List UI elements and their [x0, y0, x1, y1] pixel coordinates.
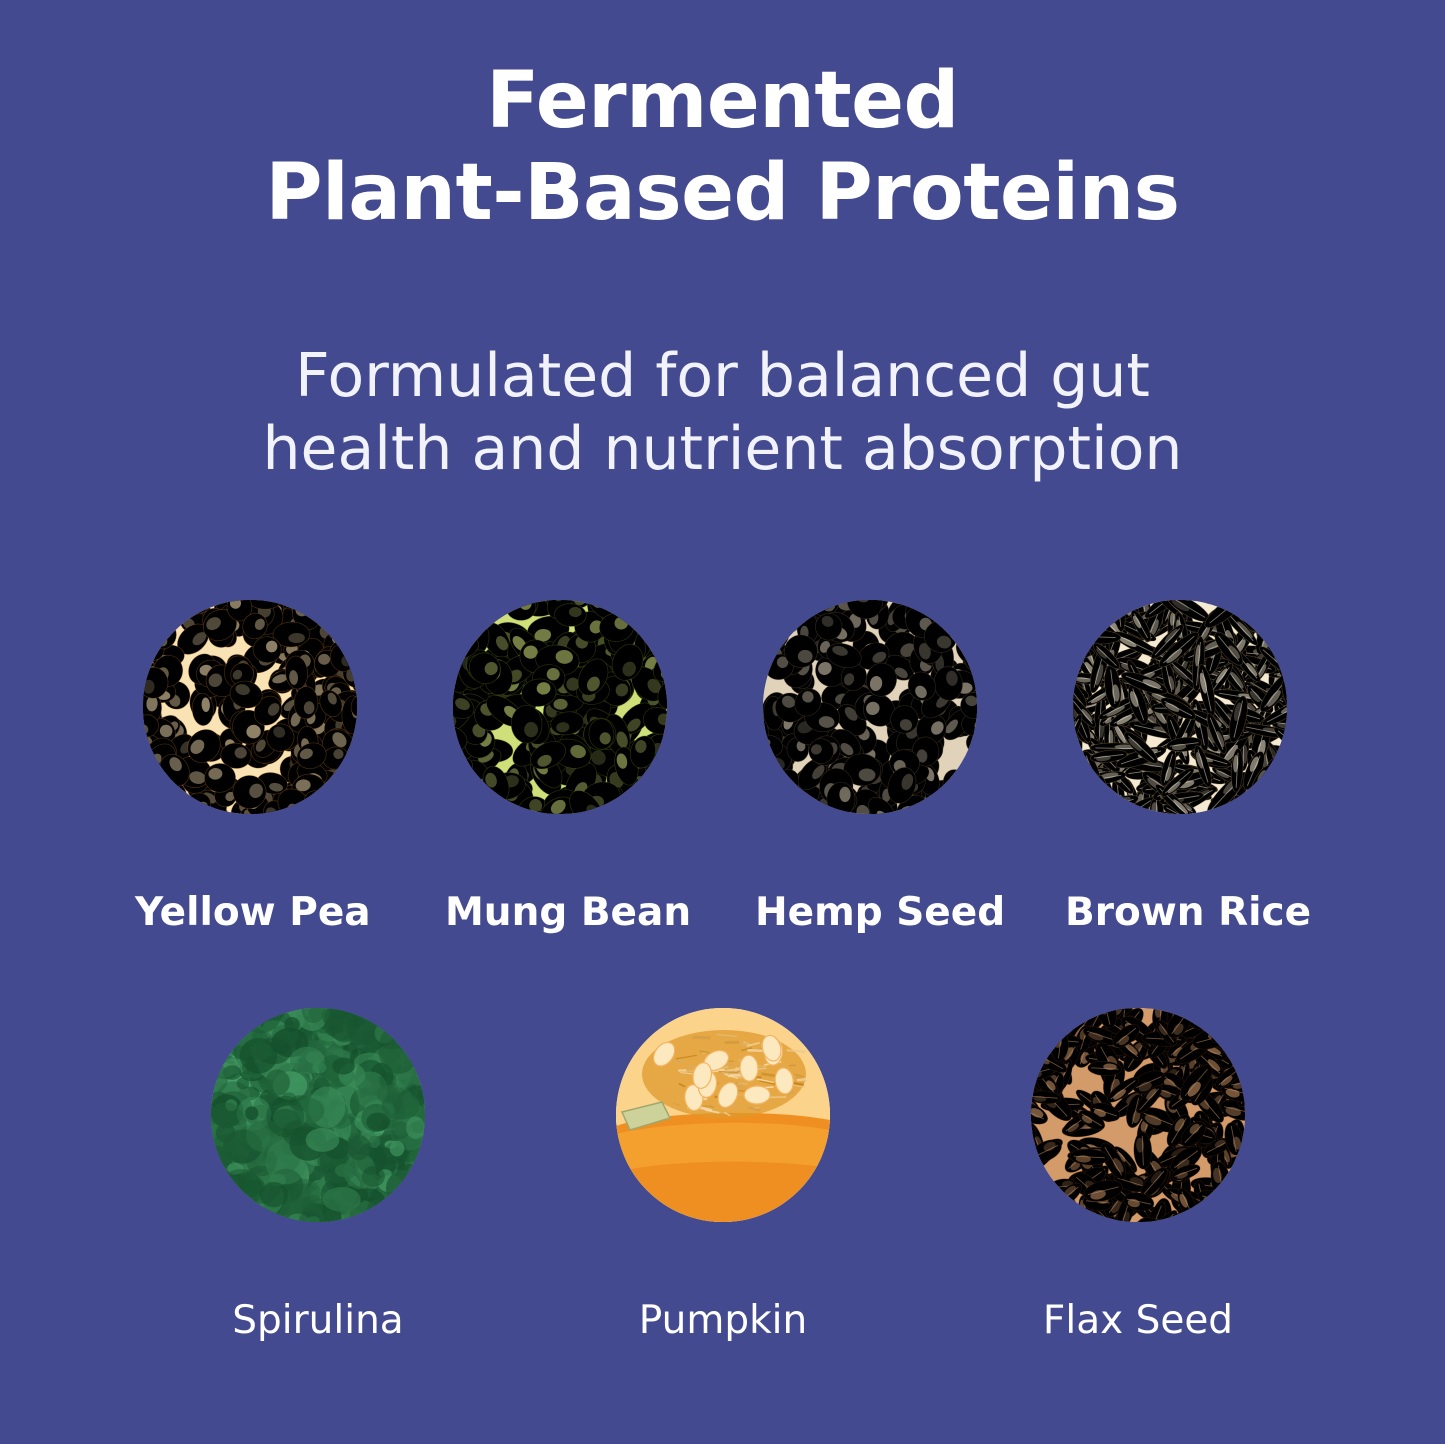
page-title-line-1: Fermented [0, 62, 1445, 142]
ingredient-card[interactable]: Mung Bean [445, 600, 675, 935]
ingredient-label: Pumpkin [608, 1300, 838, 1343]
page-title-line-2: Plant-Based Proteins [0, 154, 1445, 234]
brown-rice-swatch [1073, 600, 1287, 814]
ingredient-card[interactable]: Yellow Pea [135, 600, 365, 935]
page-subtitle-line-1: Formulated for balanced gut [0, 340, 1445, 413]
flax-seed-swatch [1031, 1008, 1245, 1222]
ingredient-card[interactable]: Spirulina [203, 1008, 433, 1343]
ingredient-card[interactable]: Brown Rice [1065, 600, 1295, 935]
subtitle-block: Formulated for balanced gut health and n… [0, 340, 1445, 486]
pumpkin-swatch [616, 1008, 830, 1222]
ingredient-label: Mung Bean [445, 892, 675, 935]
ingredient-card[interactable]: Hemp Seed [755, 600, 985, 935]
ingredient-label: Spirulina [203, 1300, 433, 1343]
yellow-pea-swatch [143, 600, 357, 814]
header-block: Fermented Plant-Based Proteins [0, 62, 1445, 233]
ingredient-card[interactable]: Pumpkin [608, 1008, 838, 1343]
page-subtitle-line-2: health and nutrient absorption [0, 413, 1445, 486]
spirulina-swatch [211, 1008, 425, 1222]
ingredient-card[interactable]: Flax Seed [1023, 1008, 1253, 1343]
ingredient-label: Yellow Pea [135, 892, 365, 935]
hemp-seed-swatch [763, 600, 977, 814]
ingredient-label: Brown Rice [1065, 892, 1295, 935]
mung-bean-swatch [453, 600, 667, 814]
ingredient-label: Hemp Seed [755, 892, 985, 935]
ingredient-label: Flax Seed [1023, 1300, 1253, 1343]
poster-root: Fermented Plant-Based Proteins Formulate… [0, 0, 1445, 1444]
